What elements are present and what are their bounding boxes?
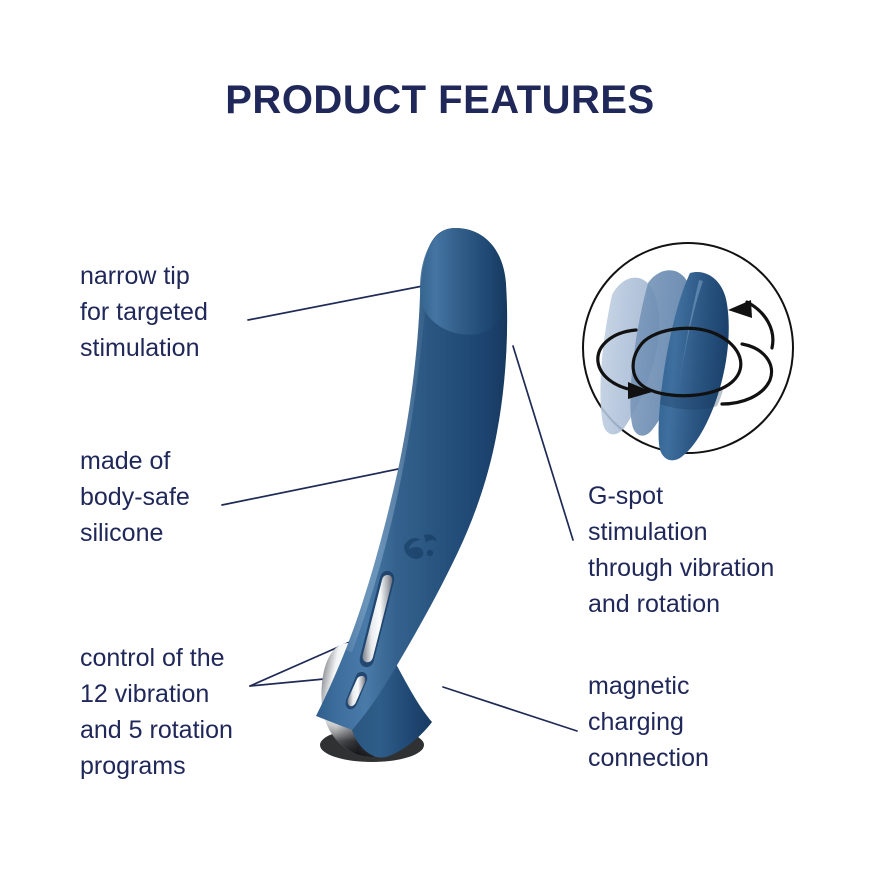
- feature-label-body-safe: made of body-safe silicone: [80, 443, 330, 551]
- leader-magnetic: [443, 687, 577, 731]
- feature-label-controls: control of the 12 vibration and 5 rotati…: [80, 640, 350, 784]
- leader-gspot: [513, 346, 573, 540]
- feature-label-narrow-tip: narrow tip for targeted stimulation: [80, 258, 330, 366]
- feature-label-magnetic: magnetic charging connection: [588, 668, 858, 776]
- feature-label-gspot: G-spot stimulation through vibration and…: [588, 478, 878, 622]
- infographic-page: PRODUCT FEATURES: [0, 0, 880, 880]
- rotation-inset-diagram: [583, 243, 793, 460]
- product-tip: [420, 228, 506, 335]
